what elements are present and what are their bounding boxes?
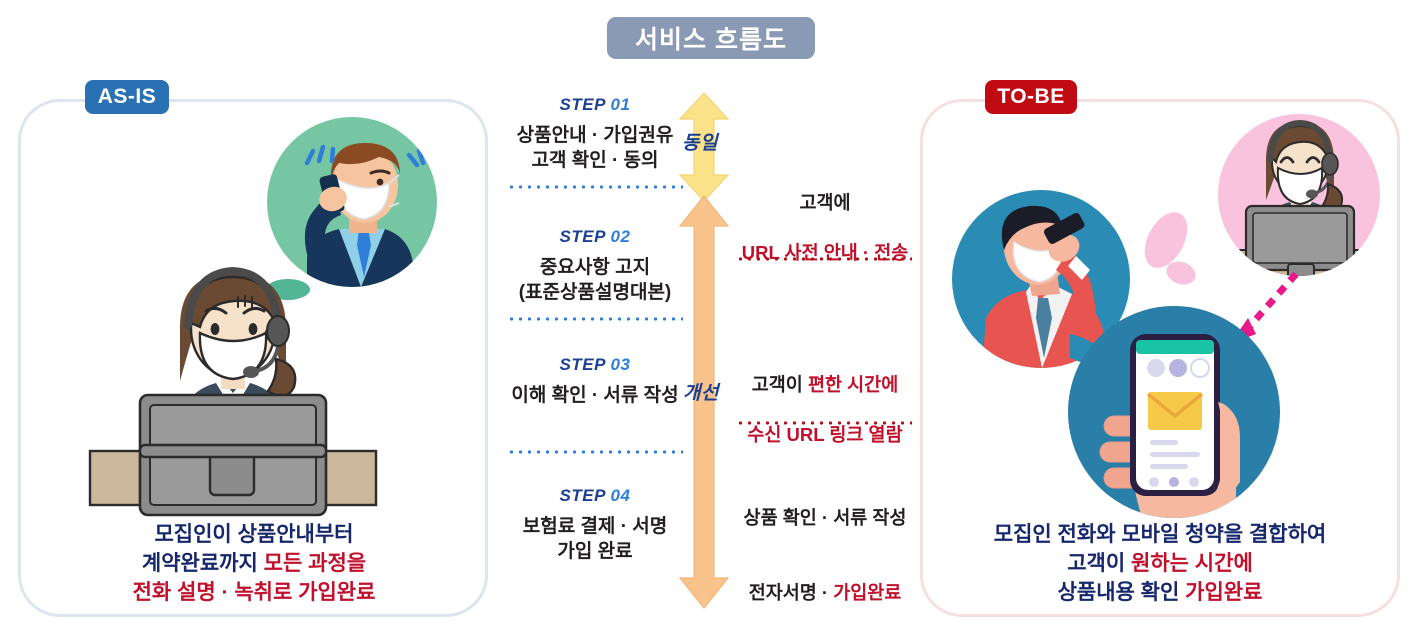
asis-tag: AS-IS (85, 80, 169, 114)
tobe-caption: 모집인 전화와 모바일 청약을 결합하여 고객이 원하는 시간에 상품내용 확인… (940, 521, 1380, 608)
improve-arrow-label: 개선 (683, 378, 719, 405)
asis-caption: 모집인이 상품안내부터 계약완료까지 모든 과정을 전화 설명 · 녹취로 가입… (48, 521, 460, 608)
step-block-1: STEP 01 상품안내 · 가입권유 고객 확인 · 동의 (495, 95, 695, 189)
step-number-2: 02 (611, 227, 631, 246)
asis-caption-line-3: 전화 설명 · 녹취로 가입완료 (48, 579, 460, 608)
tobe-caption-line-3: 상품내용 확인 가입완료 (940, 579, 1380, 608)
asis-caption-line-2-highlight: 모든 과정을 (264, 552, 366, 575)
annotation-1-line-1: 고객에 (735, 191, 915, 216)
step-word-4: STEP (560, 486, 606, 505)
step-divider-3 (507, 450, 683, 454)
step-divider-2 (507, 317, 683, 321)
step-block-4: STEP 04 보험료 결제 · 서명 가입 완료 (495, 486, 695, 564)
step-block-3: STEP 03 이해 확인 · 서류 작성 (495, 355, 695, 454)
asis-agent-illustration (88, 255, 378, 517)
step-block-2: STEP 02 중요사항 고지 (표준상품설명대본) (495, 227, 695, 321)
same-arrow-label: 동일 (682, 128, 718, 155)
annotation-2-line-1: 고객이 편한 시간에 (730, 348, 920, 398)
asis-caption-line-1: 모집인이 상품안내부터 (48, 521, 460, 550)
step-number-3: 03 (611, 355, 631, 374)
annotation-1: 고객에 URL 사전 안내 · 전송 (735, 166, 915, 291)
page-title: 서비스 흐름도 (607, 17, 815, 59)
annotation-2-line-2: 수신 URL 링크 열람 (730, 423, 920, 448)
phone-in-hand-illustration (1068, 306, 1280, 518)
annotation-3-line-2: 전자서명 · 가입완료 (730, 556, 920, 606)
tobe-caption-line-3-plain: 상품내용 확인 (1058, 581, 1186, 604)
annotation-3-line-1: 상품 확인 · 서류 작성 (730, 506, 920, 531)
annotation-divider-1 (736, 257, 912, 261)
annotation-2-plain: 고객이 (752, 374, 808, 395)
step-text-4: 보험료 결제 · 서명 가입 완료 (495, 514, 695, 564)
step-number-4: 04 (611, 486, 631, 505)
tobe-agent-circle (1218, 114, 1380, 276)
tobe-caption-line-3-highlight: 가입완료 (1185, 581, 1262, 604)
service-flow-diagram: 서비스 흐름도 AS-IS (0, 0, 1418, 635)
step-label-3: STEP 03 (495, 355, 695, 375)
asis-caption-line-2: 계약완료까지 모든 과정을 (48, 550, 460, 579)
annotation-1-line-2: URL 사전 안내 · 전송 (735, 241, 915, 266)
asis-caption-line-2-plain: 계약완료까지 (142, 552, 264, 575)
tobe-agent-illustration (1218, 114, 1380, 276)
step-label-2: STEP 02 (495, 227, 695, 247)
step-label-4: STEP 04 (495, 486, 695, 506)
phone-in-hand-circle (1068, 306, 1280, 518)
step-divider-1 (507, 185, 683, 189)
step-column: STEP 01 상품안내 · 가입권유 고객 확인 · 동의 STEP 02 중… (495, 95, 695, 565)
step-text-2: 중요사항 고지 (표준상품설명대본) (495, 255, 695, 305)
annotation-divider-2 (736, 421, 912, 425)
step-word-1: STEP (560, 95, 606, 114)
tobe-caption-line-2-plain: 고객이 (1067, 552, 1131, 575)
annotation-3-highlight: 가입완료 (833, 582, 901, 603)
annotation-3-plain: 전자서명 · (749, 582, 834, 603)
annotation-2: 고객이 편한 시간에 수신 URL 링크 열람 (730, 323, 920, 473)
tobe-caption-line-1: 모집인 전화와 모바일 청약을 결합하여 (940, 521, 1380, 550)
step-word-2: STEP (560, 227, 606, 246)
annotation-3: 상품 확인 · 서류 작성 전자서명 · 가입완료 (730, 481, 920, 631)
tobe-caption-line-2-highlight: 원하는 시간에 (1131, 552, 1253, 575)
step-text-3: 이해 확인 · 서류 작성 (495, 383, 695, 408)
step-text-1: 상품안내 · 가입권유 고객 확인 · 동의 (495, 123, 695, 173)
tobe-caption-line-2: 고객이 원하는 시간에 (940, 550, 1380, 579)
step-word-3: STEP (560, 355, 606, 374)
step-number-1: 01 (611, 95, 631, 114)
tobe-tag: TO-BE (985, 80, 1077, 114)
annotation-2-highlight-1: 편한 시간에 (808, 374, 898, 395)
step-label-1: STEP 01 (495, 95, 695, 115)
